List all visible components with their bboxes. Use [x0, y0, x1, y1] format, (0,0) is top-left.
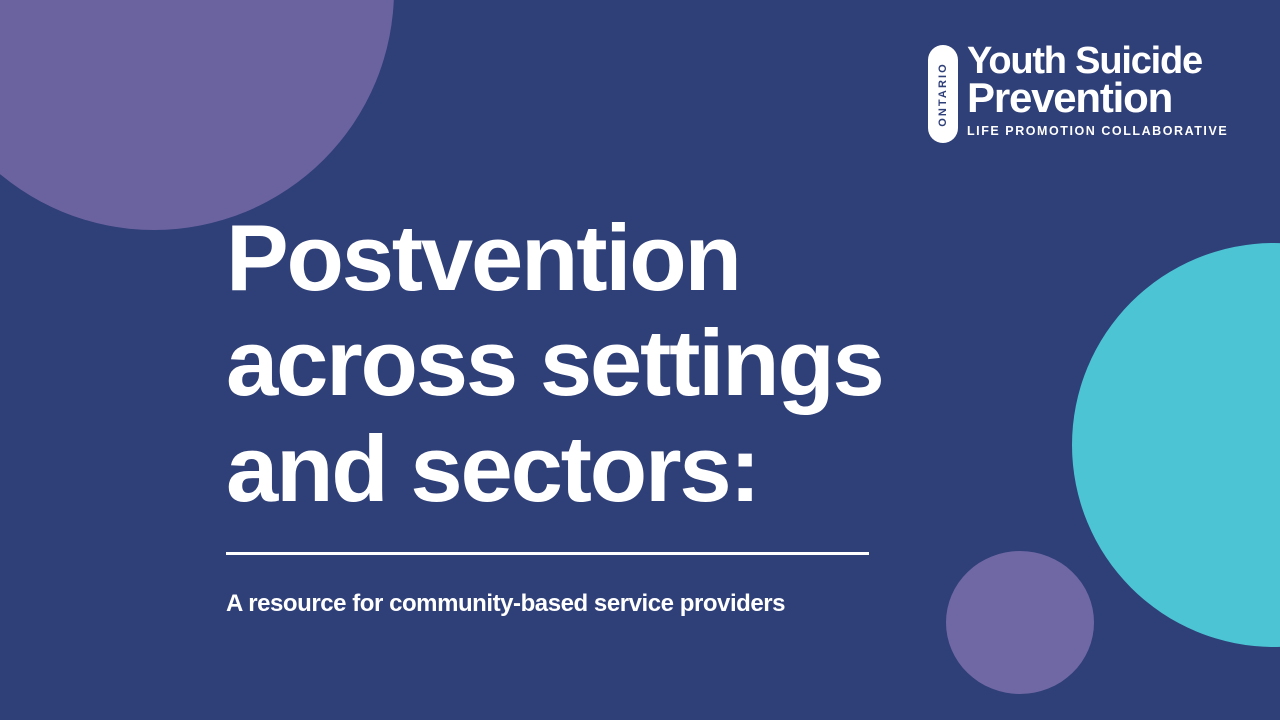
- headline-block: Postvention across settings and sectors:…: [226, 205, 946, 619]
- title-divider-rule: [226, 552, 869, 555]
- slide-subtitle: A resource for community-based service p…: [226, 590, 946, 619]
- organization-logo: ONTARIO Youth Suicide Prevention LIFE PR…: [928, 45, 1228, 143]
- slide-title-line-1: Postvention: [226, 205, 740, 310]
- logo-name-line-2: Prevention: [967, 80, 1172, 117]
- ontario-badge-pill: ONTARIO: [928, 45, 958, 143]
- logo-name-line-1: Youth Suicide: [967, 45, 1202, 78]
- logo-wordmark: Youth Suicide Prevention LIFE PROMOTION …: [967, 45, 1228, 138]
- slide-title-line-3: and sectors:: [226, 416, 759, 521]
- ontario-badge-label: ONTARIO: [938, 62, 949, 127]
- teal-circle-right-decoration: [1072, 243, 1280, 647]
- purple-circle-top-left-decoration: [0, 0, 394, 230]
- title-slide: ONTARIO Youth Suicide Prevention LIFE PR…: [0, 0, 1280, 720]
- purple-circle-bottom-right-decoration: [946, 551, 1094, 694]
- logo-tagline: LIFE PROMOTION COLLABORATIVE: [967, 125, 1228, 138]
- slide-title: Postvention across settings and sectors:: [226, 205, 946, 521]
- slide-title-line-2: across settings: [226, 310, 883, 415]
